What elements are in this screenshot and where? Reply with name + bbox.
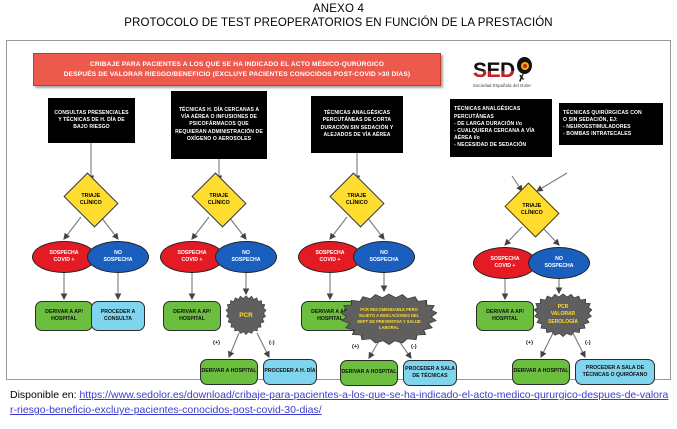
diagram-frame: CRIBAJE PARA PACIENTES A LOS QUE SE HA I… (6, 40, 671, 380)
bullseye-icon (517, 57, 532, 74)
col3-negative-sign: (-) (411, 344, 417, 350)
col1-outcome-consult: PROCEDER A CONSULTA (91, 301, 145, 331)
col3-outcome-negative: PROCEDER A SALA DE TÉCNICAS (403, 360, 457, 386)
col3-positive-sign: (+) (352, 344, 359, 350)
col4-no-suspect: NOSOSPECHA (528, 247, 590, 279)
screening-banner: CRIBAJE PARA PACIENTES A LOS QUE SE HA I… (33, 53, 441, 86)
col2-negative-sign: (-) (269, 340, 275, 346)
banner-line-1: CRIBAJE PARA PACIENTES A LOS QUE SE HA I… (90, 60, 384, 70)
col4-positive-sign: (+) (526, 340, 533, 346)
source-url-link[interactable]: https://www.sedolor.es/download/cribaje-… (10, 389, 668, 416)
col2-outcome-refer: DERIVAR A AP/ HOSPITAL (163, 301, 221, 331)
sed-subtitle: Sociedad Española del Dolor (473, 83, 531, 88)
col4-outcome-refer: DERIVAR A AP/ HOSPITAL (476, 301, 534, 331)
col2-pcr-burst: PCR (222, 295, 270, 335)
col4-header-box-1: TÉCNICAS ANALGÉSICAS PERCUTÁNEAS - DE LA… (450, 99, 552, 157)
col2-outcome-positive: DERIVAR A HOSPITAL (200, 359, 258, 385)
col2-no-suspect: NOSOSPECHA (215, 241, 277, 273)
title-annex: ANEXO 4 (0, 3, 677, 15)
col4-negative-sign: (-) (585, 340, 591, 346)
col2-positive-sign: (+) (213, 340, 220, 346)
col2-outcome-negative: PROCEDER A H. DÍA (263, 359, 317, 385)
col4-outcome-negative: PROCEDER A SALA DE TÉCNICAS O QUIRÓFANO (575, 359, 655, 385)
title-protocol: PROTOCOLO DE TEST PREOPERATORIOS EN FUNC… (0, 17, 677, 29)
col4-pcr-burst: PCR VALORAR SEROLOGÍA (534, 293, 592, 337)
col3-outcome-positive: DERIVAR A HOSPITAL (340, 360, 398, 386)
page-title: ANEXO 4 PROTOCOLO DE TEST PREOPERATORIOS… (0, 0, 677, 29)
sed-logo: SED SED ✗ Sociedad Española del Dolor (473, 56, 593, 98)
source-footer: Disponible en: https://www.sedolor.es/do… (10, 388, 670, 418)
col3-no-suspect: NOSOSPECHA (353, 241, 415, 273)
col1-no-suspect: NOSOSPECHA (87, 241, 149, 273)
col2-header-box: TÉCNICAS H. DÍA CERCANAS A VÍA AÉREA O I… (171, 91, 267, 159)
col1-header-box: CONSULTAS PRESENCIALES Y TÉCNICAS DE H. … (48, 98, 135, 143)
footer-label: Disponible en: (10, 389, 77, 401)
col4-header-box-2: TÉCNICAS QUIRÚRGICAS CON O SIN SEDACIÓN,… (559, 103, 663, 145)
col3-pcr-burst: PCR RECOMENDABLE PERO SUJETO A INDICACIO… (341, 293, 437, 345)
col3-header-box: TÉCNICAS ANALGÉSICAS PERCUTÁNEAS DE CORT… (311, 96, 403, 153)
col1-outcome-refer: DERIVAR A AP/ HOSPITAL (35, 301, 93, 331)
col4-outcome-positive: DERIVAR A HOSPITAL (512, 359, 570, 385)
banner-line-2: DESPUÉS DE VALORAR RIESGO/BENEFICIO (EXC… (64, 70, 410, 80)
